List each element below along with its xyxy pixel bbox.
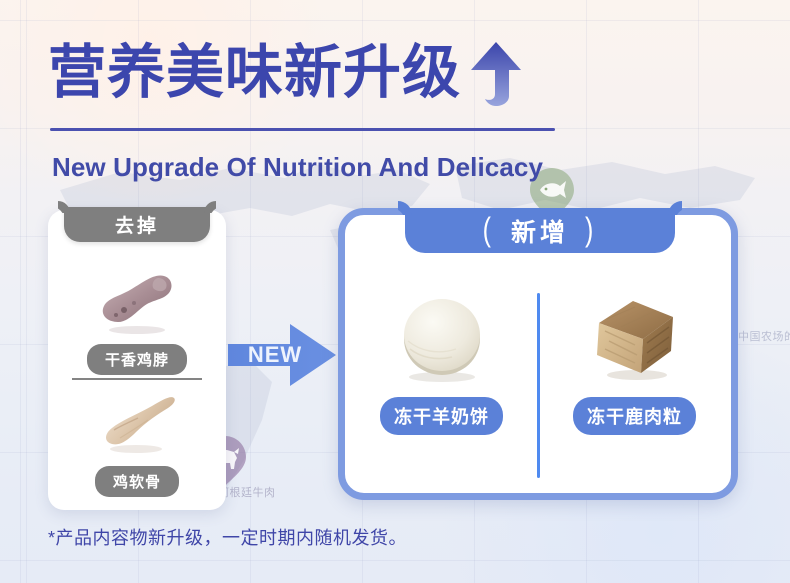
title-underline <box>50 128 555 131</box>
removed-items-card: 去掉 <box>48 210 226 510</box>
added-item-label: 冻干鹿肉粒 <box>573 397 696 435</box>
arrow-right-icon: NEW <box>228 322 338 388</box>
added-items-card: ( 新增 ) <box>338 208 738 500</box>
added-item: 冻干羊奶饼 <box>345 267 538 493</box>
venison-cube-photo <box>585 285 685 389</box>
chicken-neck-photo <box>48 268 226 338</box>
bracket-left-icon: ( <box>483 214 495 248</box>
page-title: 营养美味新升级 <box>48 38 523 108</box>
promo-poster: 阿根廷牛肉 中国农场的 营养美味新升级 New Upgrade Of Nutri… <box>0 0 790 583</box>
cow-pin-label: 阿根廷牛肉 <box>218 484 276 500</box>
chicken-cartilage-photo <box>48 390 226 460</box>
arrow-up-icon <box>469 40 523 108</box>
card-divider <box>72 378 202 380</box>
removed-item: 干香鸡脖 <box>48 268 226 375</box>
bracket-right-icon: ) <box>585 214 597 248</box>
background-watermark: 中国农场的 <box>738 328 790 344</box>
added-banner-label: 新增 <box>511 213 569 249</box>
removed-banner: 去掉 <box>64 207 210 242</box>
removed-item: 鸡软骨 <box>48 390 226 497</box>
footnote: *产品内容物新升级，一定时期内随机发货。 <box>48 524 407 550</box>
added-item: 冻干鹿肉粒 <box>538 267 731 493</box>
added-banner: ( 新增 ) <box>405 208 675 253</box>
removed-item-label: 干香鸡脖 <box>87 344 187 375</box>
new-label: NEW <box>242 342 308 368</box>
added-item-label: 冻干羊奶饼 <box>380 397 503 435</box>
removed-item-label: 鸡软骨 <box>95 466 179 497</box>
page-title-text: 营养美味新升级 <box>48 44 461 102</box>
goat-milk-cake-photo <box>392 285 492 389</box>
page-subtitle: New Upgrade Of Nutrition And Delicacy <box>52 152 543 183</box>
